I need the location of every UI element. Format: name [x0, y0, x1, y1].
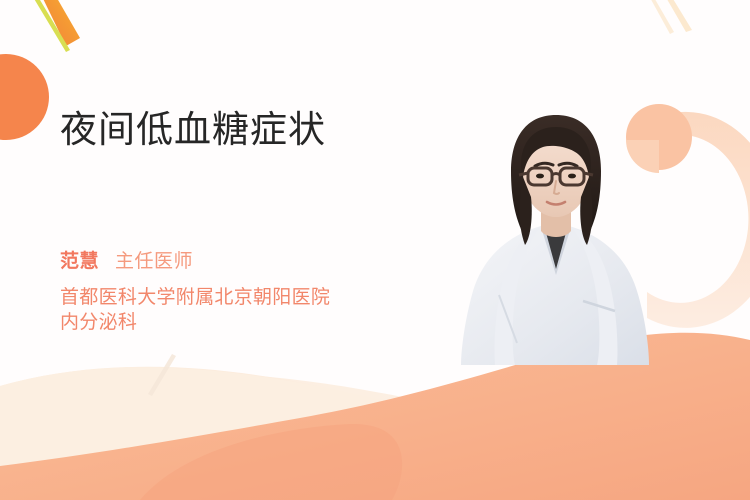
doctor-affiliation: 首都医科大学附属北京朝阳医院 内分泌科: [60, 285, 330, 335]
portrait-group: [461, 115, 649, 365]
doctor-title: 主任医师: [115, 246, 193, 273]
doctor-portrait-photo: [455, 105, 655, 365]
title-block: 夜间低血糖症状: [60, 108, 480, 152]
cover-canvas: 夜间低血糖症状 范慧 主任医师 首都医科大学附属北京朝阳医院 内分泌科: [0, 0, 750, 500]
eye-left: [536, 174, 544, 179]
eye-right: [568, 174, 576, 179]
doctor-line: 范慧 主任医师: [60, 246, 330, 273]
page-title: 夜间低血糖症状: [60, 108, 480, 152]
doctor-name: 范慧: [60, 246, 99, 273]
credit-block: 范慧 主任医师 首都医科大学附属北京朝阳医院 内分泌科: [60, 246, 330, 335]
